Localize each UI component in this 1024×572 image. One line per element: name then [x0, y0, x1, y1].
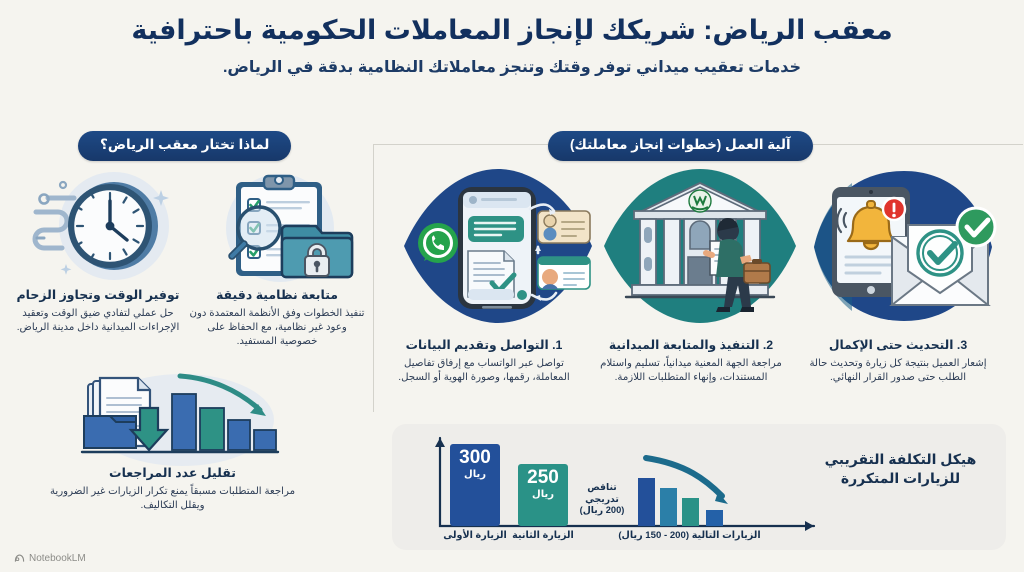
feature-item-compliance: متابعة نظامية دقيقة تنفيذ الخطوات وفق ال…: [188, 288, 366, 348]
chart-tail-bar-2: [660, 488, 677, 526]
chart-xtick-1: الزيارة الأولى: [442, 530, 508, 541]
feature-item-fewer-visits: تقليل عدد المراجعات مراجعة المتطلبات مسب…: [45, 466, 300, 513]
workflow-step-1: 1. التواصل وتقديم البيانات تواصل عبر الو…: [386, 338, 582, 384]
vertical-divider: [373, 144, 374, 412]
government-building-icon: [600, 165, 800, 327]
clipboard-lock-icon: [196, 168, 364, 286]
cost-chart-panel: هيكل التكلفة التقريبي للزيارات المتكررة: [392, 424, 1006, 550]
section-badge-why: لماذا تختار معقب الرياض؟: [78, 131, 291, 161]
watermark-label: NotebookLM: [29, 553, 86, 564]
chart-tail-bar-4: [706, 510, 723, 526]
feature-title: توفير الوقت وتجاوز الزحام: [12, 288, 184, 303]
workflow-step-3: 3. التحديث حتى الإكمال إشعار العميل بنتي…: [800, 338, 996, 384]
step-title: 2. التنفيذ والمتابعة الميدانية: [592, 338, 790, 353]
feature-item-time: توفير الوقت وتجاوز الزحام حل عملي لتفادي…: [12, 288, 184, 335]
feature-body: مراجعة المتطلبات مسبقاً يمنع تكرار الزيا…: [45, 485, 300, 513]
chart-title: هيكل التكلفة التقريبي للزيارات المتكررة: [813, 450, 988, 488]
step-body: مراجعة الجهة المعنية ميدانياً، تسليم واس…: [592, 357, 790, 385]
feature-body: حل عملي لتفادي ضيق الوقت وتعقيد الإجراءا…: [12, 307, 184, 335]
notebooklm-icon: [14, 553, 25, 564]
step-title: 3. التحديث حتى الإكمال: [800, 338, 996, 353]
chart-bar-2-value: 250 ريال: [518, 468, 568, 500]
infographic-page: معقب الرياض: شريكك لإنجاز المعاملات الحك…: [0, 0, 1024, 572]
chart-xtick-2: الزيارة الثانية: [510, 530, 576, 541]
chart-xtick-3: الزيارات التالية (200 - 150 ريال): [582, 530, 797, 541]
workflow-step-2: 2. التنفيذ والمتابعة الميدانية مراجعة ال…: [592, 338, 790, 384]
page-title: معقب الرياض: شريكك لإنجاز المعاملات الحك…: [0, 14, 1024, 48]
section-badge-workflow: آلية العمل (خطوات إنجاز معاملتك): [548, 131, 813, 161]
feature-body: تنفيذ الخطوات وفق الأنظمة المعتمدة دون و…: [188, 307, 366, 348]
chart-plot-area: 300 ريال 250 ريال تناقص تدريجي (200 ريال…: [410, 430, 820, 548]
page-subtitle: خدمات تعقيب ميداني توفر وقتك وتنجز معامل…: [0, 57, 1024, 77]
feature-title: متابعة نظامية دقيقة: [188, 288, 366, 303]
step-title: 1. التواصل وتقديم البيانات: [386, 338, 582, 353]
chart-bar-1-value: 300 ريال: [450, 448, 500, 480]
chart-annotation: تناقص تدريجي (200 ريال): [570, 482, 634, 517]
chart-tail-bar-1: [638, 478, 655, 526]
notification-envelope-icon: [804, 165, 1004, 327]
step-body: إشعار العميل بنتيجة كل زيارة وتحديث حالة…: [800, 357, 996, 385]
chart-tail-bar-3: [682, 498, 699, 526]
watermark: NotebookLM: [14, 553, 86, 564]
header: معقب الرياض: شريكك لإنجاز المعاملات الحك…: [0, 14, 1024, 77]
documents-decline-icon: [62, 368, 284, 468]
step-body: تواصل عبر الواتساب مع إرفاق تفاصيل المعا…: [386, 357, 582, 385]
phone-whatsapp-icon: [398, 165, 598, 327]
speed-clock-icon: [22, 168, 187, 286]
feature-title: تقليل عدد المراجعات: [45, 466, 300, 481]
